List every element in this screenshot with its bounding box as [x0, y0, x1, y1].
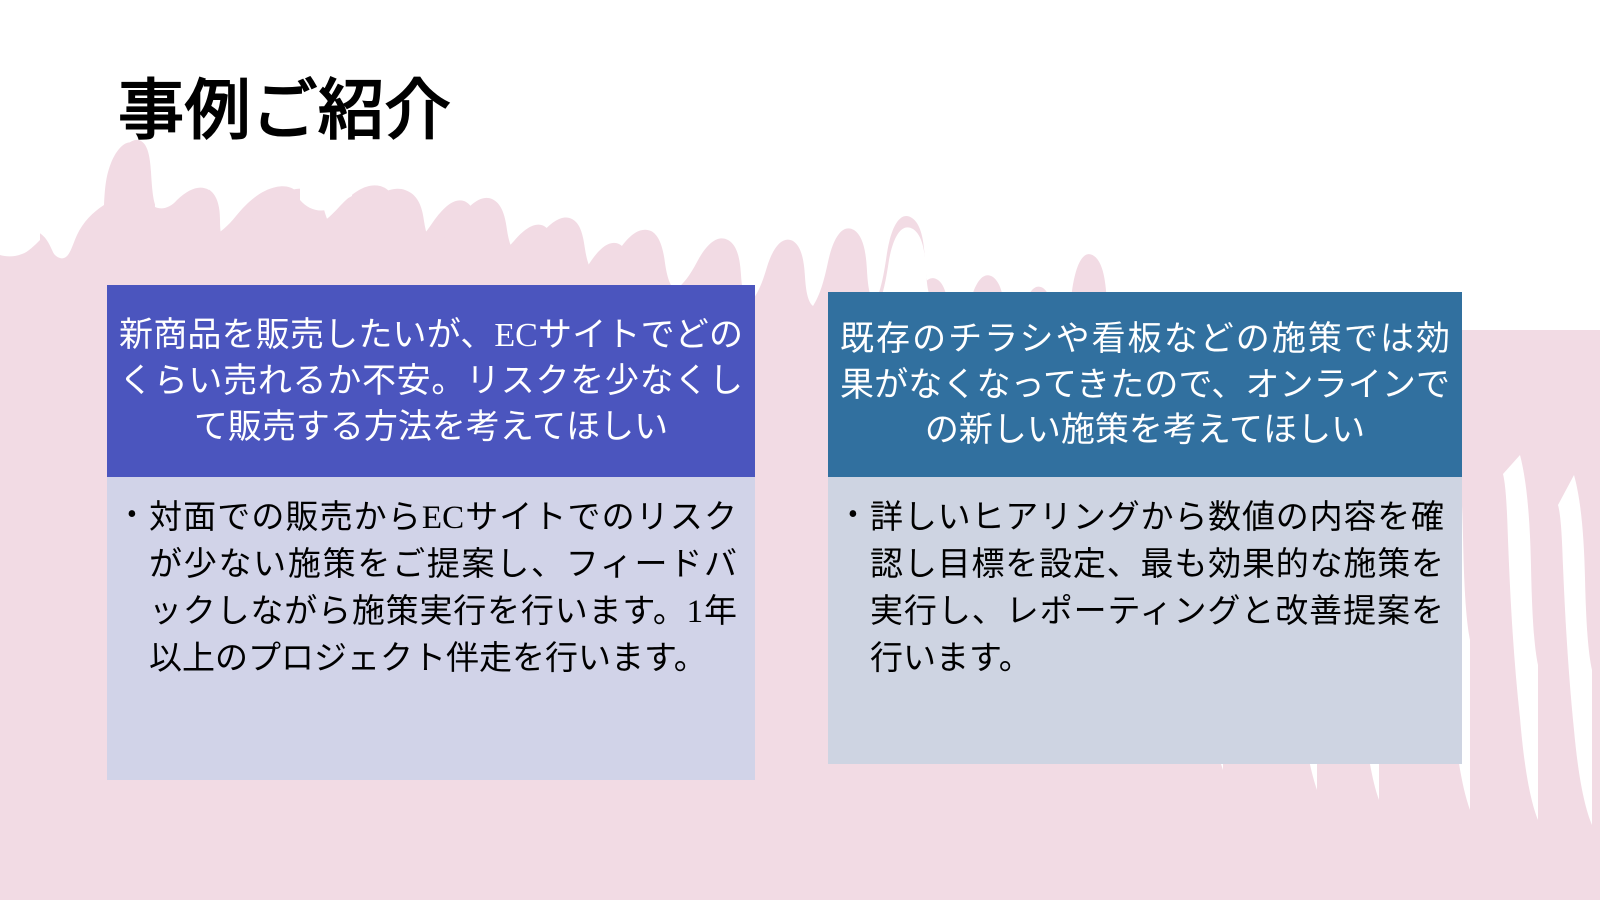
flame-notch-l [1503, 455, 1538, 820]
page-title: 事例ご紹介 [118, 74, 451, 148]
case-card-left-body: • 対面での販売からECサイトでのリスクが少ない施策をご提案し、フィードバックし… [107, 477, 755, 780]
case-card-right-header: 既存のチラシや看板などの施策では効果がなくなってきたので、オンラインでの新しい施… [828, 292, 1462, 477]
slide-canvas: 事例ご紹介 新商品を販売したいが、ECサイトでどのくらい売れるか不安。リスクを少… [0, 0, 1600, 900]
case-card-right-body: • 詳しいヒアリングから数値の内容を確認し目標を設定、最も効果的な施策を実行し、… [828, 477, 1462, 764]
case-card-right: 既存のチラシや看板などの施策では効果がなくなってきたので、オンラインでの新しい施… [828, 292, 1462, 764]
case-card-left-body-text: 対面での販売からECサイトでのリスクが少ない施策をご提案し、フィードバックしなが… [149, 495, 737, 682]
list-item: • 対面での販売からECサイトでのリスクが少ない施策をご提案し、フィードバックし… [127, 495, 737, 682]
list-item: • 詳しいヒアリングから数値の内容を確認し目標を設定、最も効果的な施策を実行し、… [848, 495, 1444, 682]
flame-notch-m [1558, 475, 1592, 825]
case-card-left: 新商品を販売したいが、ECサイトでどのくらい売れるか不安。リスクを少なくして販売… [107, 285, 755, 780]
case-card-left-header: 新商品を販売したいが、ECサイトでどのくらい売れるか不安。リスクを少なくして販売… [107, 285, 755, 477]
case-card-right-body-text: 詳しいヒアリングから数値の内容を確認し目標を設定、最も効果的な施策を実行し、レポ… [870, 495, 1444, 682]
flame-notch-mid-valley [300, 150, 352, 211]
bullet-point-icon: • [848, 495, 870, 535]
flame-notch-left-valley [155, 150, 209, 208]
bullet-point-icon: • [127, 495, 149, 535]
flame-notch-left-peak [0, 150, 40, 256]
